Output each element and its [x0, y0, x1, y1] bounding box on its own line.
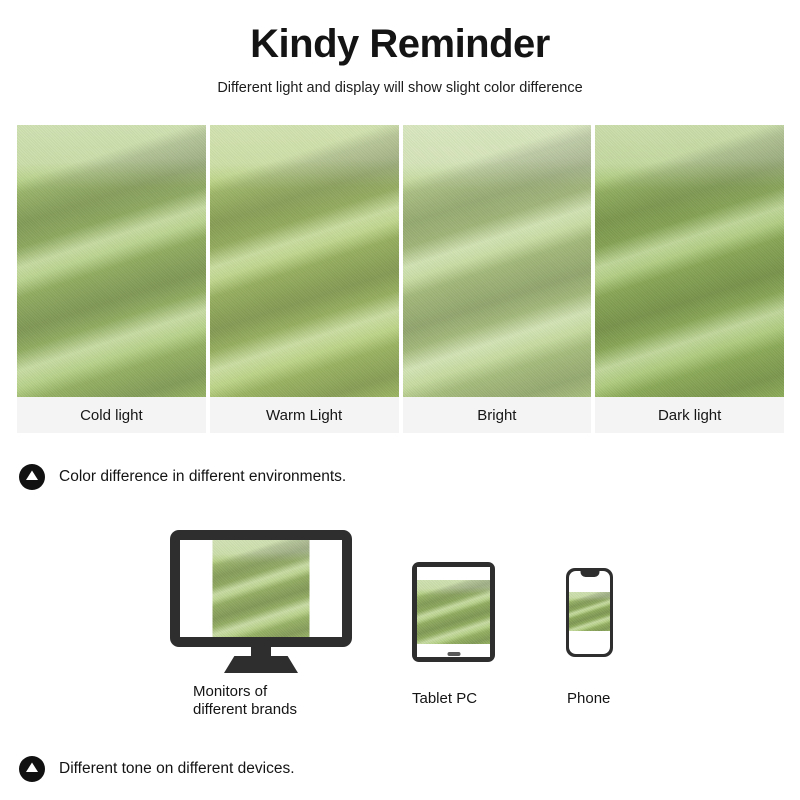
lighting-swatch-strip: Cold light Warm Light Bright Dark light — [17, 125, 784, 433]
page-subtitle: Different light and display will show sl… — [0, 80, 800, 96]
device-label-tablet: Tablet PC — [412, 690, 477, 708]
fabric-weave-layer — [569, 592, 610, 631]
fabric-swatch-warm-icon — [210, 125, 399, 397]
device-label-monitors: Monitors of different brands — [193, 683, 297, 718]
monitor-screen — [180, 540, 342, 637]
note-text-environments: Color difference in different environmen… — [59, 468, 346, 486]
phone-screen-artwork — [569, 592, 610, 631]
page-header: Kindy Reminder Different light and displ… — [0, 0, 800, 96]
fabric-swatch-bright-icon — [403, 125, 592, 397]
fabric-weave-layer — [210, 125, 399, 397]
swatch-caption-dark-light: Dark light — [595, 397, 784, 433]
monitor-stand-base — [224, 656, 298, 673]
swatch-cell-warm-light: Warm Light — [210, 125, 399, 433]
phone-screen — [569, 571, 610, 654]
tablet-icon — [412, 562, 495, 662]
swatch-caption-cold-light: Cold light — [17, 397, 206, 433]
swatch-caption-warm-light: Warm Light — [210, 397, 399, 433]
swatch-caption-bright: Bright — [403, 397, 592, 433]
page-title: Kindy Reminder — [0, 22, 800, 66]
triangle-up-circle-icon — [19, 756, 45, 782]
tablet-screen — [417, 567, 490, 657]
fabric-weave-layer — [213, 540, 310, 637]
triangle-up-circle-icon — [19, 464, 45, 490]
monitor-icon — [170, 530, 352, 670]
phone-notch — [580, 571, 599, 577]
device-illustration-group: Monitors of different brands Tablet PC P… — [0, 520, 800, 735]
phone-frame — [566, 568, 613, 657]
tablet-screen-artwork — [417, 580, 490, 645]
phone-icon — [566, 568, 613, 657]
note-row-devices: Different tone on different devices. — [19, 756, 295, 782]
monitor-screen-artwork — [213, 540, 310, 637]
fabric-weave-layer — [417, 580, 490, 645]
tablet-frame — [412, 562, 495, 662]
swatch-cell-bright: Bright — [403, 125, 592, 433]
fabric-weave-layer — [403, 125, 592, 397]
tablet-home-button — [447, 652, 460, 656]
fabric-swatch-dark-icon — [595, 125, 784, 397]
fabric-weave-layer — [17, 125, 206, 397]
fabric-swatch-cold-icon — [17, 125, 206, 397]
monitor-frame — [170, 530, 352, 647]
swatch-cell-dark-light: Dark light — [595, 125, 784, 433]
note-text-devices: Different tone on different devices. — [59, 760, 295, 778]
swatch-cell-cold-light: Cold light — [17, 125, 206, 433]
note-row-environments: Color difference in different environmen… — [19, 464, 346, 490]
fabric-weave-layer — [595, 125, 784, 397]
device-label-phone: Phone — [567, 690, 610, 708]
